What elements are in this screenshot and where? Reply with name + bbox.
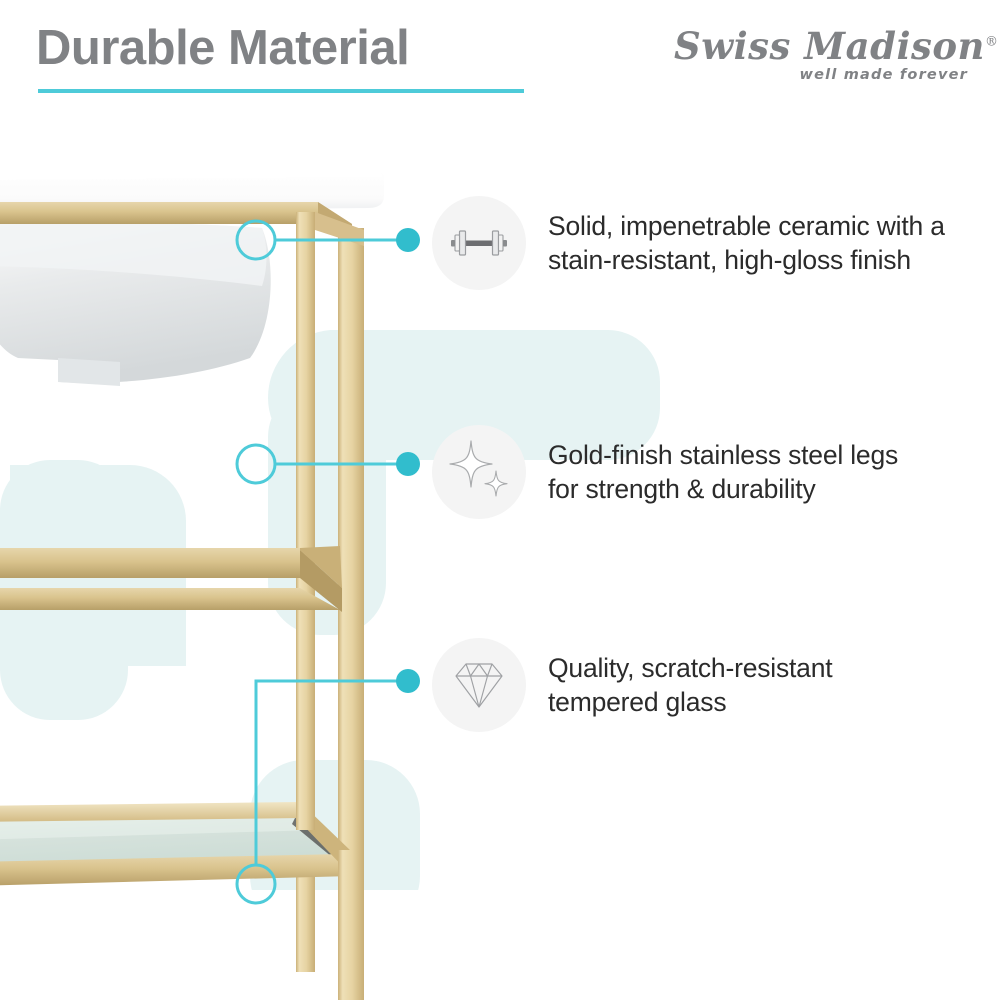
feature-icon-badge <box>432 638 526 732</box>
feature-icon-badge <box>432 196 526 290</box>
feature-text: Solid, impenetrable ceramic with a stain… <box>548 209 945 278</box>
feature-item-ceramic: Solid, impenetrable ceramic with a stain… <box>432 196 992 290</box>
title-underline <box>38 89 524 93</box>
brand-tagline: well made forever <box>674 67 968 83</box>
brand-name-text: Swiss Madison <box>674 24 985 68</box>
feature-text: Gold-finish stainless steel legs for str… <box>548 438 898 507</box>
header: Durable Material Swiss Madison® well mad… <box>0 0 1000 115</box>
infographic-page: Durable Material Swiss Madison® well mad… <box>0 0 1000 1000</box>
product-image-console-sink <box>0 150 420 1000</box>
diamond-icon <box>448 654 510 716</box>
connector-endpoint-dots <box>396 228 420 693</box>
brand-logo: Swiss Madison® well made forever <box>674 28 974 94</box>
registered-mark: ® <box>985 35 999 50</box>
sparkle-icon <box>445 438 513 506</box>
brand-name: Swiss Madison® <box>674 28 974 65</box>
feature-text: Quality, scratch-resistant tempered glas… <box>548 651 832 720</box>
feature-item-tempered-glass: Quality, scratch-resistant tempered glas… <box>432 638 992 732</box>
feature-icon-badge <box>432 425 526 519</box>
feature-item-gold-legs: Gold-finish stainless steel legs for str… <box>432 425 992 519</box>
dumbbell-icon <box>446 210 512 276</box>
page-title: Durable Material <box>36 22 409 76</box>
background-watermark-faucet <box>0 330 700 890</box>
